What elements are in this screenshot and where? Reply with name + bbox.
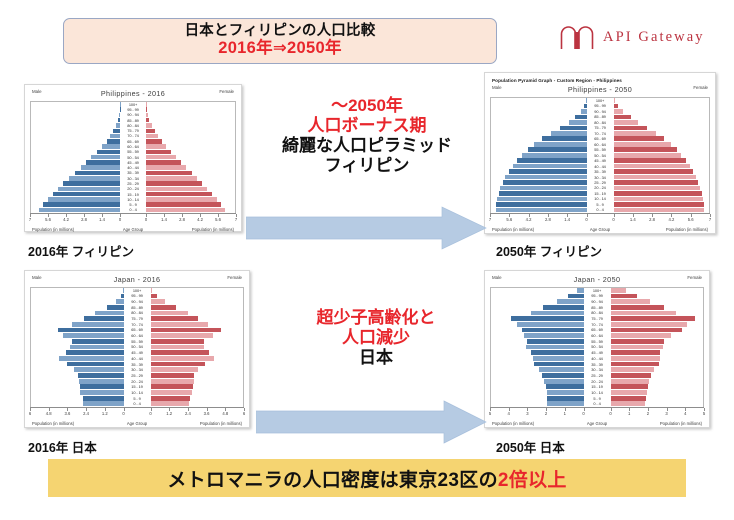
age-group-label: 70 - 74 <box>587 132 614 136</box>
chart-title: Japan - 2016 <box>30 275 244 284</box>
male-bar <box>75 171 120 175</box>
female-bar <box>151 367 199 372</box>
annotation-top-red-1: 〜2050年 <box>258 96 476 116</box>
male-bar <box>63 333 123 338</box>
axis-tick-label: 4.2 <box>197 217 203 222</box>
male-bar <box>58 187 120 191</box>
female-bar <box>151 316 199 321</box>
female-bar <box>151 362 206 367</box>
age-group-label: 25 - 29 <box>587 181 614 185</box>
axis-tick-label: 0 <box>149 411 151 416</box>
axis-tick-label: 3.6 <box>64 411 70 416</box>
chart-title: Philippines - 2050 <box>490 85 710 94</box>
female-bar <box>611 333 671 338</box>
axis-tick-label: 3.6 <box>204 411 210 416</box>
male-bar <box>524 333 583 338</box>
male-bar <box>547 401 583 406</box>
axis-tick-label: 0 <box>582 411 584 416</box>
chart-plot-area: 100+95 - 9990 - 9485 - 8980 - 8475 - 797… <box>490 287 704 407</box>
age-group-label: 80 - 84 <box>587 121 614 125</box>
female-bar <box>611 356 660 361</box>
chart-body: MalePhilippines - 2050Female100+95 - 999… <box>490 85 710 234</box>
male-bar <box>53 192 120 196</box>
female-bar <box>146 118 149 122</box>
age-group-label: 95 - 99 <box>584 294 611 298</box>
age-group-label: 100+ <box>587 99 614 103</box>
caption-philippines-2016: 2016年 フィリピン <box>28 241 134 260</box>
female-bar <box>151 288 152 293</box>
annotation-bottom-black-1: 日本 <box>276 348 476 368</box>
age-group-label: 55 - 59 <box>120 150 146 154</box>
annotation-top-black-1: 綺麗な人口ピラミッド <box>258 136 476 156</box>
female-bar <box>614 175 696 180</box>
male-bar <box>500 186 586 191</box>
male-bar <box>66 350 124 355</box>
age-group-label: 60 - 64 <box>124 334 151 338</box>
gateway-arch-icon <box>560 24 594 50</box>
chart-plot-area: 100+95 - 9990 - 9485 - 8980 - 8475 - 797… <box>30 101 236 213</box>
axis-tick-label: 5.6 <box>506 217 512 222</box>
xaxis-label-center: Age Group <box>30 227 236 232</box>
female-bar <box>611 316 695 321</box>
male-bar <box>544 379 584 384</box>
female-bar <box>151 390 193 395</box>
female-bar <box>151 345 205 350</box>
female-bar <box>146 113 148 117</box>
female-bar <box>614 136 664 141</box>
age-group-label: 90 - 94 <box>124 300 151 304</box>
female-bar <box>614 104 619 109</box>
male-bar <box>509 169 587 174</box>
female-bar <box>614 131 657 136</box>
female-bar <box>611 305 665 310</box>
male-bar <box>48 197 120 201</box>
female-bar <box>151 373 195 378</box>
male-bar <box>43 202 120 206</box>
caption-japan-2016: 2016年 日本 <box>28 437 97 456</box>
brand-name: API Gateway <box>603 29 705 46</box>
axis-tick-label: 1 <box>628 411 630 416</box>
bottom-banner: メトロマニラの人口密度は東京23区の2倍以上 <box>48 459 686 497</box>
female-bar <box>146 150 171 154</box>
bottom-banner-text: メトロマニラの人口密度は東京23区の2倍以上 <box>167 465 566 492</box>
male-bar <box>531 350 584 355</box>
axis-tick-label: 1.2 <box>166 411 172 416</box>
chart-body: MaleJapan - 2016Female100+95 - 9990 - 94… <box>30 275 244 428</box>
age-group-label: 10 - 14 <box>584 391 611 395</box>
xaxis-label-center: Age Group <box>490 227 710 232</box>
age-group-label: 15 - 19 <box>587 192 614 196</box>
axis-tick-label: 2.4 <box>83 411 89 416</box>
age-group-label: 75 - 79 <box>584 317 611 321</box>
female-bar <box>151 294 157 299</box>
axis-tick-label: 5 <box>489 411 491 416</box>
chart-card-philippines-2050[interactable]: Population Pyramid Graph - Custom Region… <box>484 72 716 234</box>
age-group-label: 80 - 84 <box>124 311 151 315</box>
female-bar <box>146 107 147 111</box>
axis-tick-label: 7 <box>235 217 237 222</box>
female-bar <box>146 187 207 191</box>
female-bar <box>151 396 190 401</box>
male-bar <box>97 150 120 154</box>
age-group-label: 80 - 84 <box>584 311 611 315</box>
female-bar <box>151 339 204 344</box>
axis-tick-label: 6 <box>29 411 31 416</box>
female-bar <box>146 139 162 143</box>
transition-arrow-top <box>246 205 488 251</box>
age-group-label: 15 - 19 <box>120 193 146 197</box>
male-bar <box>72 322 124 327</box>
brand-logo: API Gateway <box>560 24 705 50</box>
axis-tick-label: 2.8 <box>179 217 185 222</box>
age-group-label: 0 - 4 <box>587 208 614 212</box>
axis-tick-label: 7 <box>709 217 711 222</box>
age-group-label: 65 - 69 <box>584 328 611 332</box>
annotation-bottom: 超少子高齢化と 人口減少 日本 <box>276 308 476 368</box>
male-bar <box>72 339 124 344</box>
chart-axis-footer: Population (in millions)Age GroupPopulat… <box>30 418 244 428</box>
male-bar <box>86 160 120 164</box>
female-bar <box>611 299 651 304</box>
age-group-label: 35 - 39 <box>120 171 146 175</box>
female-bar <box>614 164 690 169</box>
female-bar <box>151 333 213 338</box>
annotation-top-red-2: 人口ボーナス期 <box>258 116 476 136</box>
male-bar <box>83 401 123 406</box>
female-bar <box>146 155 176 159</box>
female-bar <box>146 197 217 201</box>
caption-japan-2050: 2050年 日本 <box>496 437 565 456</box>
female-bar <box>611 322 688 327</box>
male-bar <box>528 147 587 152</box>
chart-body: MalePhilippines - 2016Female100+95 - 999… <box>30 89 236 234</box>
female-bar <box>611 390 647 395</box>
male-bar <box>80 390 123 395</box>
axis-tick-label: 0 <box>119 217 121 222</box>
slide-title-line1: 日本とフィリピンの人口比較 <box>185 24 376 39</box>
chart-top-row: MaleJapan - 2016Female <box>30 275 244 287</box>
female-bar <box>151 311 189 316</box>
chart-card-japan-2016[interactable]: MaleJapan - 2016Female100+95 - 9990 - 94… <box>24 270 250 428</box>
male-bar <box>505 175 586 180</box>
male-bar <box>107 305 124 310</box>
male-bar <box>527 339 583 344</box>
male-bar <box>59 356 124 361</box>
age-group-label: 85 - 89 <box>587 115 614 119</box>
age-group-label: 60 - 64 <box>587 143 614 147</box>
female-bar <box>611 362 659 367</box>
annotation-top: 〜2050年 人口ボーナス期 綺麗な人口ピラミッド フィリピン <box>258 96 476 176</box>
chart-top-row: MalePhilippines - 2050Female <box>490 85 710 97</box>
male-bar <box>110 134 120 138</box>
age-group-label: 15 - 19 <box>584 385 611 389</box>
age-group-label: 25 - 29 <box>584 374 611 378</box>
male-bar <box>63 181 120 185</box>
age-group-label: 35 - 39 <box>587 170 614 174</box>
female-bar <box>614 186 701 191</box>
slide-title-line2: 2016年⇒2050年 <box>218 40 342 57</box>
chart-x-axis: 64.83.62.41.2001.22.43.64.86 <box>30 407 244 418</box>
male-bar <box>517 322 584 327</box>
male-bar <box>531 311 584 316</box>
female-bar <box>146 144 166 148</box>
female-bar <box>146 208 225 212</box>
chart-x-axis: 75.64.22.81.4001.42.84.25.67 <box>490 213 710 224</box>
male-bar <box>533 356 584 361</box>
female-bar <box>611 384 648 389</box>
female-bar <box>151 328 222 333</box>
female-bar <box>614 180 699 185</box>
chart-title: Japan - 2050 <box>490 275 704 284</box>
age-group-label: 90 - 94 <box>584 300 611 304</box>
male-bar <box>67 362 123 367</box>
male-bar <box>513 164 587 169</box>
female-bar <box>151 401 190 406</box>
male-bar <box>547 396 583 401</box>
male-bar <box>497 197 586 202</box>
male-bar <box>503 180 587 185</box>
age-group-label: 35 - 39 <box>584 363 611 367</box>
axis-tick-label: 4.8 <box>46 411 52 416</box>
age-group-label: 30 - 34 <box>124 368 151 372</box>
female-bar <box>611 345 664 350</box>
male-bar <box>499 191 587 196</box>
chart-card-japan-2050[interactable]: MaleJapan - 2050Female100+95 - 9990 - 94… <box>484 270 710 428</box>
female-bar <box>614 158 686 163</box>
axis-tick-label: 5 <box>703 411 705 416</box>
male-bar <box>84 316 123 321</box>
male-bar <box>91 155 120 159</box>
age-group-label: 50 - 54 <box>587 154 614 158</box>
axis-tick-label: 7 <box>29 217 31 222</box>
age-group-label: 0 - 4 <box>584 402 611 406</box>
chart-axis-footer: Population (in millions)Age GroupPopulat… <box>490 224 710 234</box>
age-group-label: 0 - 4 <box>124 402 151 406</box>
age-group-label: 35 - 39 <box>124 363 151 367</box>
axis-tick-label: 3 <box>526 411 528 416</box>
annotation-bottom-red-2: 人口減少 <box>276 328 476 348</box>
axis-tick-label: 0 <box>609 411 611 416</box>
chart-card-philippines-2016[interactable]: MalePhilippines - 2016Female100+95 - 999… <box>24 84 242 232</box>
axis-tick-label: 4 <box>508 411 510 416</box>
age-group-label: 55 - 59 <box>124 340 151 344</box>
age-group-label: 10 - 14 <box>587 197 614 201</box>
male-bar <box>543 305 584 310</box>
axis-tick-label: 1.4 <box>630 217 636 222</box>
male-bar <box>560 126 587 131</box>
age-group-label: 20 - 24 <box>587 186 614 190</box>
age-group-label: 55 - 59 <box>584 340 611 344</box>
female-bar <box>146 181 202 185</box>
axis-tick-label: 4.2 <box>526 217 532 222</box>
age-group-label: 5 - 9 <box>587 203 614 207</box>
age-group-label: 15 - 19 <box>124 385 151 389</box>
female-bar <box>151 384 193 389</box>
axis-tick-label: 1.4 <box>161 217 167 222</box>
age-group-label: 25 - 29 <box>124 374 151 378</box>
female-bar <box>614 126 648 131</box>
age-group-label: 5 - 9 <box>124 397 151 401</box>
male-bar <box>568 294 584 299</box>
female-bar <box>151 356 215 361</box>
age-group-label: 65 - 69 <box>124 328 151 332</box>
age-group-label: 90 - 94 <box>120 113 146 117</box>
female-bar <box>614 191 702 196</box>
caption-philippines-2050: 2050年 フィリピン <box>496 241 602 260</box>
axis-tick-label: 2.8 <box>545 217 551 222</box>
chart-top-row: MaleJapan - 2050Female <box>490 275 704 287</box>
xaxis-label-center: Age Group <box>30 421 244 426</box>
male-bar <box>539 367 583 372</box>
female-bar <box>146 129 155 133</box>
age-group-label: 45 - 49 <box>587 159 614 163</box>
age-group-label: 45 - 49 <box>584 351 611 355</box>
male-bar <box>69 176 120 180</box>
chart-x-axis: 75.64.22.81.4001.42.84.25.67 <box>30 213 236 224</box>
axis-tick-label: 1 <box>564 411 566 416</box>
age-group-label: 40 - 44 <box>124 357 151 361</box>
axis-tick-label: 2 <box>545 411 547 416</box>
female-bar <box>151 305 176 310</box>
age-group-label: 10 - 14 <box>124 391 151 395</box>
age-group-label: 90 - 94 <box>587 110 614 114</box>
male-bar <box>39 208 120 212</box>
chart-body: MaleJapan - 2050Female100+95 - 9990 - 94… <box>490 275 704 428</box>
male-bar <box>83 396 124 401</box>
age-group-label: 60 - 64 <box>584 334 611 338</box>
axis-tick-label: 2.8 <box>649 217 655 222</box>
axis-tick-label: 1.4 <box>564 217 570 222</box>
female-bar <box>611 350 661 355</box>
male-bar <box>575 115 586 120</box>
age-group-label: 70 - 74 <box>124 323 151 327</box>
chart-plot-area: 100+95 - 9990 - 9485 - 8980 - 8475 - 797… <box>490 97 710 213</box>
axis-tick-label: 5.6 <box>45 217 51 222</box>
age-group-label: 50 - 54 <box>584 345 611 349</box>
chart-plot-area: 100+95 - 9990 - 9485 - 8980 - 8475 - 797… <box>30 287 244 407</box>
female-bar <box>146 160 181 164</box>
male-bar <box>511 316 583 321</box>
male-bar <box>113 129 120 133</box>
female-bar <box>611 401 645 406</box>
age-group-label: 100+ <box>584 289 611 293</box>
age-group-label: 30 - 34 <box>584 368 611 372</box>
age-group-label: 95 - 99 <box>124 294 151 298</box>
age-group-label: 100+ <box>124 289 151 293</box>
age-group-label: 0 - 4 <box>120 208 146 212</box>
male-bar <box>74 367 123 372</box>
chart-axis-footer: Population (in millions)Age GroupPopulat… <box>490 418 704 428</box>
chart-axis-footer: Population (in millions)Age GroupPopulat… <box>30 224 236 234</box>
male-bar <box>522 153 586 158</box>
age-group-label: 20 - 24 <box>124 380 151 384</box>
male-bar <box>534 362 584 367</box>
age-group-label: 95 - 99 <box>587 104 614 108</box>
male-bar <box>116 299 124 304</box>
male-bar <box>496 208 587 213</box>
age-group-label: 85 - 89 <box>584 306 611 310</box>
female-bar <box>611 379 650 384</box>
age-group-label: 45 - 49 <box>124 351 151 355</box>
bottom-banner-text-red: 2倍以上 <box>498 470 567 491</box>
male-bar <box>95 311 124 316</box>
age-group-label: 20 - 24 <box>584 380 611 384</box>
axis-tick-label: 5.6 <box>688 217 694 222</box>
axis-tick-label: 1.2 <box>102 411 108 416</box>
axis-tick-label: 3 <box>665 411 667 416</box>
axis-tick-label: 0 <box>585 217 587 222</box>
female-bar <box>146 202 221 206</box>
axis-tick-label: 4.2 <box>668 217 674 222</box>
female-bar <box>611 288 627 293</box>
male-bar <box>557 299 584 304</box>
axis-tick-label: 2 <box>647 411 649 416</box>
axis-tick-label: 2.4 <box>185 411 191 416</box>
female-bar <box>151 299 166 304</box>
female-bar <box>611 373 652 378</box>
female-bar <box>611 328 682 333</box>
female-bar <box>614 147 677 152</box>
male-bar <box>81 165 120 169</box>
chart-title: Philippines - 2016 <box>30 89 236 98</box>
female-bar <box>614 98 616 103</box>
male-bar <box>526 345 583 350</box>
male-bar <box>517 158 587 163</box>
female-bar <box>614 208 704 213</box>
age-group-label: 40 - 44 <box>587 165 614 169</box>
axis-tick-label: 0 <box>122 411 124 416</box>
female-bar <box>614 115 631 120</box>
axis-tick-label: 4 <box>684 411 686 416</box>
axis-tick-label: 7 <box>489 217 491 222</box>
slide-root: 日本とフィリピンの人口比較 2016年⇒2050年 API Gateway Ma… <box>0 0 734 520</box>
male-bar <box>79 379 124 384</box>
male-bar <box>496 202 586 207</box>
female-bar <box>151 379 194 384</box>
age-group-label: 75 - 79 <box>124 317 151 321</box>
age-group-label: 30 - 34 <box>587 176 614 180</box>
age-group-label: 5 - 9 <box>584 397 611 401</box>
annotation-top-black-2: フィリピン <box>258 156 476 176</box>
xaxis-label-center: Age Group <box>490 421 704 426</box>
age-group-label: 75 - 79 <box>587 126 614 130</box>
age-group-label: 85 - 89 <box>124 306 151 310</box>
axis-tick-label: 4.2 <box>63 217 69 222</box>
age-group-label: 70 - 74 <box>584 323 611 327</box>
male-bar <box>80 384 124 389</box>
female-bar <box>146 165 186 169</box>
male-bar <box>546 384 584 389</box>
female-bar <box>146 176 197 180</box>
male-bar <box>534 142 586 147</box>
slide-title-box: 日本とフィリピンの人口比較 2016年⇒2050年 <box>63 18 497 64</box>
female-bar <box>614 169 693 174</box>
age-group-label: 20 - 24 <box>120 187 146 191</box>
female-bar <box>611 339 665 344</box>
transition-arrow-bottom <box>256 400 488 446</box>
age-group-label: 70 - 74 <box>120 134 146 138</box>
male-bar <box>102 144 120 148</box>
female-bar <box>614 142 671 147</box>
male-bar <box>522 328 583 333</box>
axis-tick-label: 0 <box>145 217 147 222</box>
axis-tick-label: 5.6 <box>215 217 221 222</box>
annotation-bottom-red-1: 超少子高齢化と <box>276 308 476 328</box>
axis-tick-label: 4.8 <box>222 411 228 416</box>
male-bar <box>542 373 584 378</box>
female-bar <box>614 109 624 114</box>
female-bar <box>614 197 703 202</box>
